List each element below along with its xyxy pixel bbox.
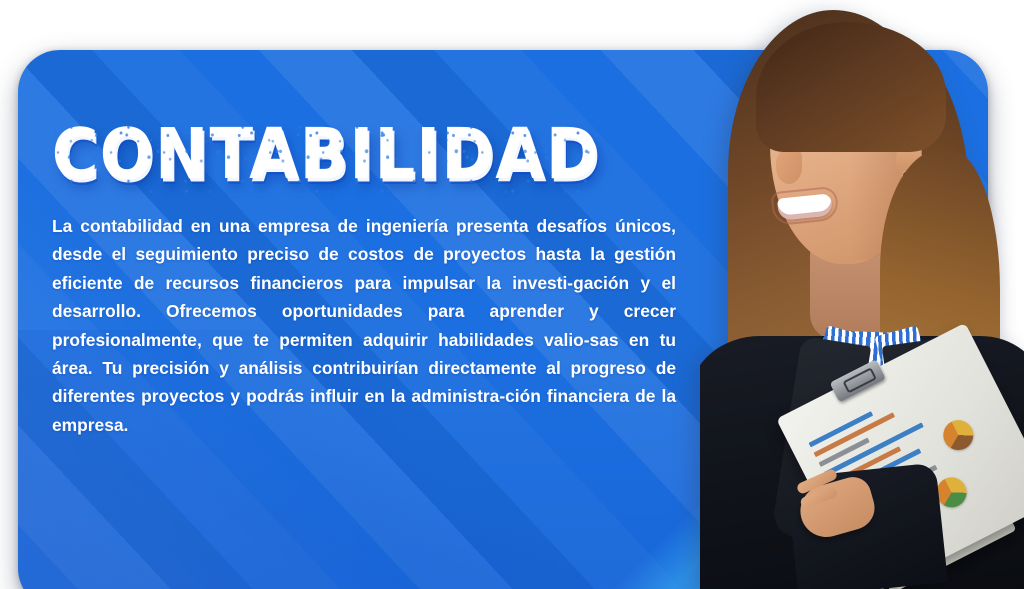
body-paragraph: La contabilidad en una empresa de ingeni…	[52, 212, 676, 439]
nose	[776, 150, 802, 184]
poster-canvas: CONTABILIDAD La contabilidad en una empr…	[0, 0, 1024, 589]
page-title: CONTABILIDAD	[52, 120, 600, 189]
text-column: CONTABILIDAD La contabilidad en una empr…	[52, 120, 692, 439]
hair-front	[756, 22, 946, 152]
businesswoman-photo	[700, 0, 1024, 589]
